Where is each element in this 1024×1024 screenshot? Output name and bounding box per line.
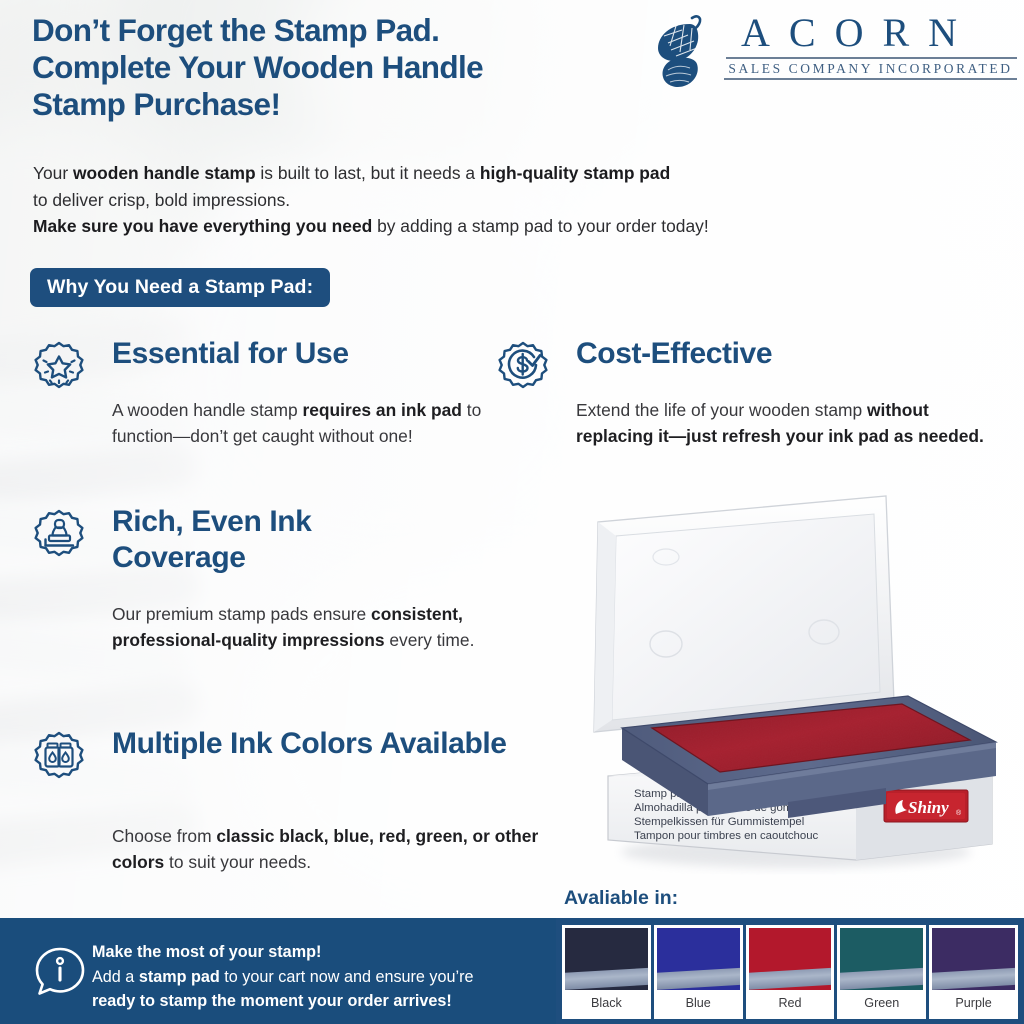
stamp-pad-lid xyxy=(594,496,894,732)
cta-line2-part-a: Add a xyxy=(92,968,139,986)
feature-title-colors: Multiple Ink Colors Available xyxy=(112,726,532,762)
swatch-label-green: Green xyxy=(840,990,923,1016)
intro-line3-part-b: by adding a stamp pad to your order toda… xyxy=(372,216,708,236)
page-title: Don’t Forget the Stamp Pad. Complete You… xyxy=(32,12,672,123)
swatch-color-purple xyxy=(932,928,1015,990)
swatch-color-red xyxy=(749,928,832,990)
logo-divider-bottom xyxy=(724,78,1017,80)
swatch-label-black: Black xyxy=(565,990,648,1016)
cta-line-3: ready to stamp the moment your order arr… xyxy=(92,989,544,1014)
feature-title-cost: Cost-Effective xyxy=(576,336,1006,372)
available-in-label: Avaliable in: xyxy=(564,886,678,910)
feature-body-colors-c: to suit your needs. xyxy=(164,852,311,872)
logo-brand-text: ACORN xyxy=(724,10,1017,56)
intro-line1-part-c: is built to last, but it needs a xyxy=(256,163,480,183)
feature-body-essential: A wooden handle stamp requires an ink pa… xyxy=(112,398,522,449)
logo-tagline: SALES COMPANY INCORPORATED xyxy=(724,61,1017,77)
feature-body-colors: Choose from classic black, blue, red, gr… xyxy=(112,824,552,875)
cta-bar: Make the most of your stamp! Add a stamp… xyxy=(0,918,556,1024)
swatch-color-green xyxy=(840,928,923,990)
swatch-label-red: Red xyxy=(749,990,832,1016)
swatch-case-lip xyxy=(565,968,648,990)
product-photo-stamp-pad: C · S Stamp pad for rubber stamps Almoha… xyxy=(556,484,1024,880)
feature-body-rich-c: every time. xyxy=(385,630,475,650)
color-swatch-bar: Black Blue Red Green Purple xyxy=(556,918,1024,1024)
feature-body-rich: Our premium stamp pads ensure consistent… xyxy=(112,602,512,653)
intro-paragraph: Your wooden handle stamp is built to las… xyxy=(33,160,913,240)
swatch-case-lip xyxy=(840,968,923,990)
swatch-color-black xyxy=(565,928,648,990)
feature-title-rich: Rich, Even Ink Coverage xyxy=(112,504,442,576)
intro-line1-part-a: Your xyxy=(33,163,73,183)
badge-ink-bottles-icon xyxy=(28,730,90,792)
cta-text: Make the most of your stamp! Add a stamp… xyxy=(92,940,544,1014)
svg-text:®: ® xyxy=(956,809,962,817)
swatch-label-blue: Blue xyxy=(657,990,740,1016)
feature-body-rich-a: Our premium stamp pads ensure xyxy=(112,604,371,624)
intro-line-3: Make sure you have everything you need b… xyxy=(33,213,913,240)
feature-body-cost: Extend the life of your wooden stamp wit… xyxy=(576,398,1006,449)
intro-line1-part-b: wooden handle stamp xyxy=(73,163,256,183)
cta-line-2: Add a stamp pad to your cart now and ens… xyxy=(92,965,544,990)
headline-line-2: Complete Your Wooden Handle xyxy=(32,49,672,86)
cta-line3-text: ready to stamp the moment your order arr… xyxy=(92,992,452,1010)
intro-line3-part-a: Make sure you have everything you need xyxy=(33,216,372,236)
cta-line2-part-b: stamp pad xyxy=(139,968,220,986)
swatch-black[interactable]: Black xyxy=(563,926,650,1018)
section-banner-why-you-need: Why You Need a Stamp Pad: xyxy=(30,268,330,307)
acorn-icon xyxy=(652,12,720,90)
logo-wordmark: ACORN SALES COMPANY INCORPORATED xyxy=(724,10,1017,80)
intro-line1-part-d: high-quality stamp pad xyxy=(480,163,670,183)
svg-text:Shiny: Shiny xyxy=(908,798,949,817)
svg-text:Tampon pour timbres en caoutch: Tampon pour timbres en caoutchouc xyxy=(634,830,819,842)
headline-line-1: Don’t Forget the Stamp Pad. xyxy=(32,12,672,49)
feature-body-essential-b: requires an ink pad xyxy=(302,400,461,420)
acorn-logo[interactable]: ACORN SALES COMPANY INCORPORATED xyxy=(652,8,1017,90)
cta-line-1: Make the most of your stamp! xyxy=(92,940,544,965)
header: Don’t Forget the Stamp Pad. Complete You… xyxy=(0,0,1024,150)
cta-line1-text: Make the most of your stamp! xyxy=(92,943,321,961)
badge-stamp-icon xyxy=(28,508,90,570)
cta-line2-part-c: to your cart now and ensure you’re xyxy=(220,968,474,986)
feature-body-cost-a: Extend the life of your wooden stamp xyxy=(576,400,867,420)
swatch-case-lip xyxy=(657,968,740,990)
badge-dollar-check-icon xyxy=(492,340,554,402)
swatch-red[interactable]: Red xyxy=(747,926,834,1018)
feature-title-essential: Essential for Use xyxy=(112,336,512,372)
swatch-green[interactable]: Green xyxy=(838,926,925,1018)
swatch-color-blue xyxy=(657,928,740,990)
swatch-label-purple: Purple xyxy=(932,990,1015,1016)
svg-text:Stempelkissen für Gummistempel: Stempelkissen für Gummistempel xyxy=(634,816,804,828)
info-bubble-icon xyxy=(32,944,88,1000)
swatch-case-lip xyxy=(749,968,832,990)
logo-divider-top xyxy=(726,57,1017,59)
headline-line-3: Stamp Purchase! xyxy=(32,86,672,123)
swatch-purple[interactable]: Purple xyxy=(930,926,1017,1018)
swatch-blue[interactable]: Blue xyxy=(655,926,742,1018)
swatch-case-lip xyxy=(932,968,1015,990)
feature-body-essential-a: A wooden handle stamp xyxy=(112,400,302,420)
shiny-brand-badge: Shiny ® xyxy=(884,790,968,822)
badge-star-icon xyxy=(28,340,90,402)
feature-body-colors-a: Choose from xyxy=(112,826,216,846)
intro-line-1: Your wooden handle stamp is built to las… xyxy=(33,160,913,187)
intro-line-2: to deliver crisp, bold impressions. xyxy=(33,187,913,214)
